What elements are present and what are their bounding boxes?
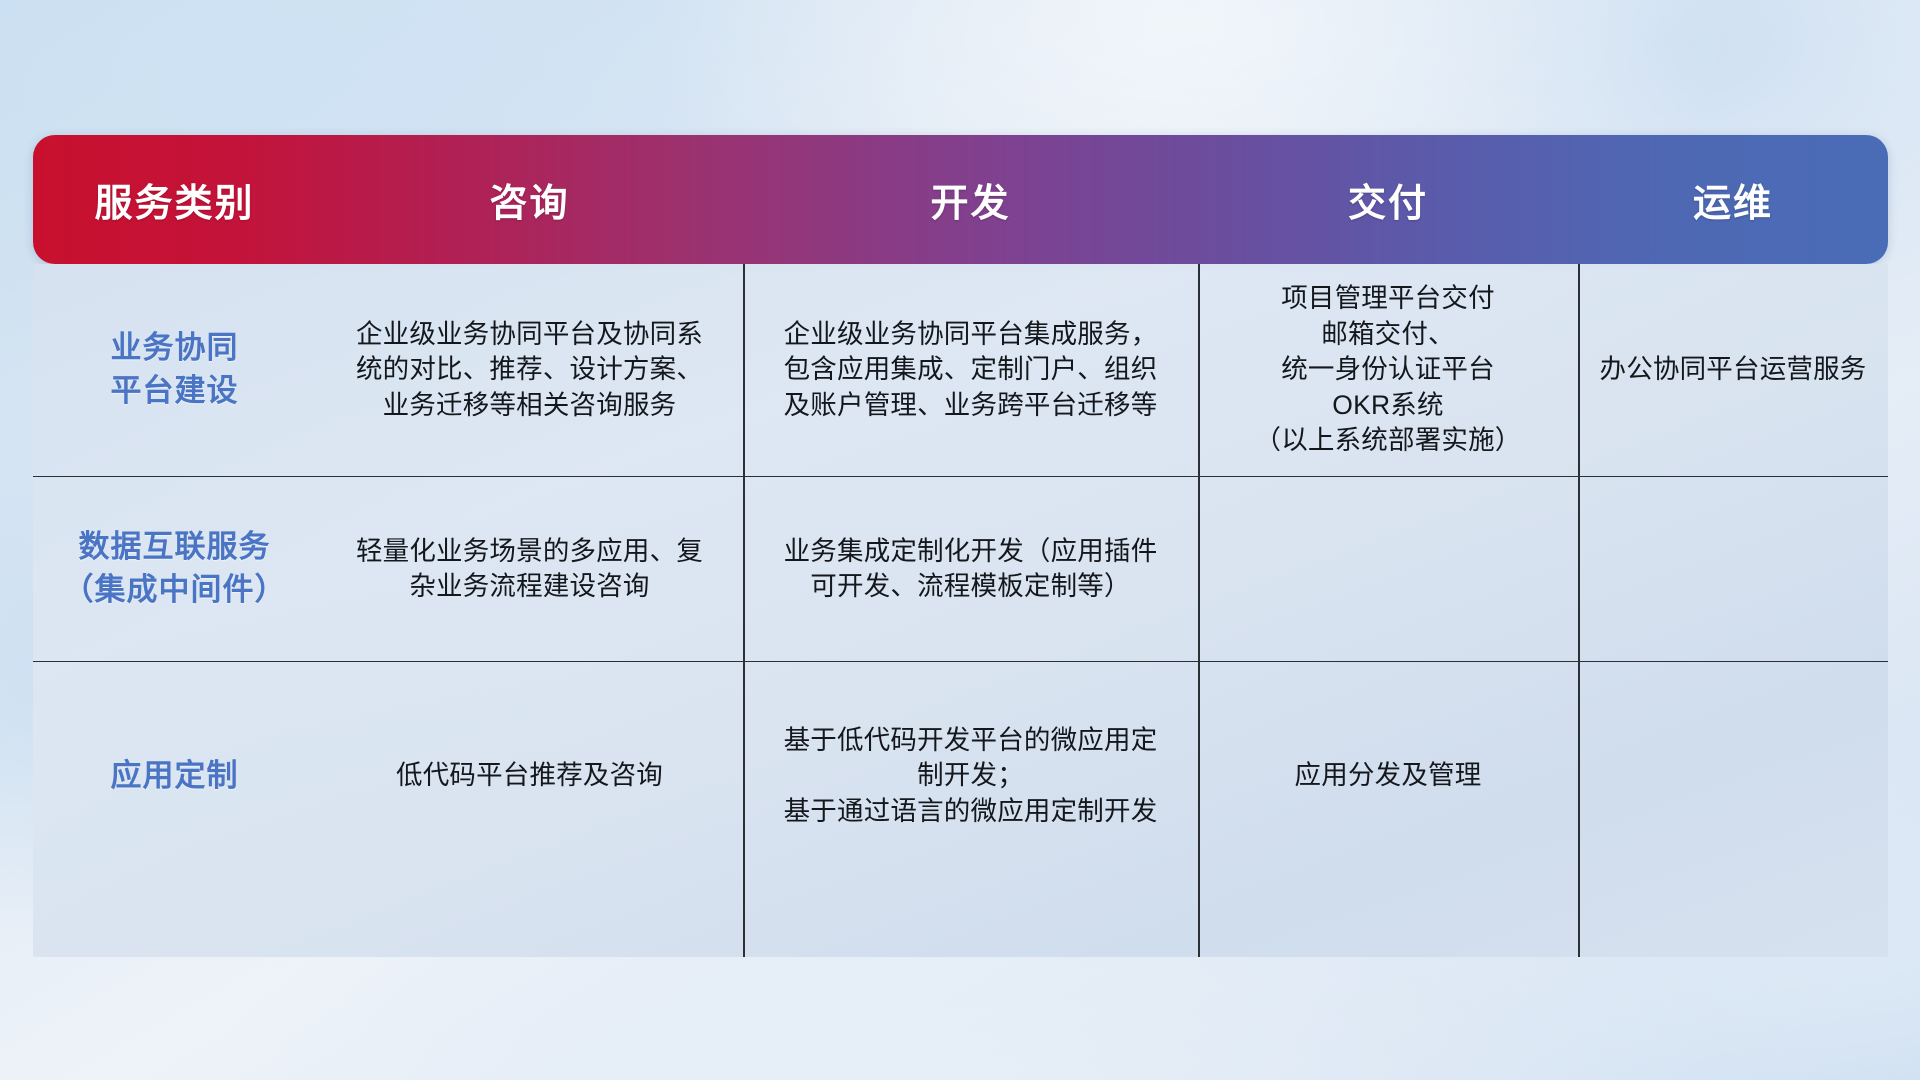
cell-value: 低代码平台推荐及咨询 [396, 758, 663, 794]
category-label: 应用定制 [111, 755, 239, 798]
category-label: 业务协同 平台建设 [111, 327, 239, 413]
cell-development: 企业级业务协同平台集成服务， 包含应用集成、定制门户、组织 及账户管理、业务跨平… [743, 264, 1198, 476]
category-label: 数据互联服务 （集成中间件） [63, 526, 287, 612]
column-header-label: 开发 [930, 172, 1010, 227]
cell-consulting: 企业级业务协同平台及协同系 统的对比、推荐、设计方案、 业务迁移等相关咨询服务 [316, 264, 743, 476]
column-header-label: 咨询 [489, 172, 569, 227]
service-matrix-card: 服务类别 咨询 开发 交付 运维 业务协同 平台建设 企业级业务协同平台及协同系… [33, 135, 1888, 957]
cell-consulting: 低代码平台推荐及咨询 [316, 662, 743, 890]
table-row: 应用定制 低代码平台推荐及咨询 基于低代码开发平台的微应用定 制开发； 基于通过… [33, 662, 1888, 890]
column-header-label: 交付 [1348, 172, 1428, 227]
column-header-operations: 运维 [1578, 135, 1888, 264]
cell-delivery: 应用分发及管理 [1198, 662, 1578, 890]
table-header-row: 服务类别 咨询 开发 交付 运维 [33, 135, 1888, 264]
column-header-label: 服务类别 [94, 172, 254, 227]
cell-service-category: 应用定制 [33, 662, 316, 890]
cell-delivery [1198, 477, 1578, 661]
cell-operations: 办公协同平台运营服务 [1578, 264, 1888, 476]
column-header-service-category: 服务类别 [33, 135, 316, 264]
cell-value: 业务集成定制化开发（应用插件 可开发、流程模板定制等） [784, 534, 1158, 605]
cell-service-category: 业务协同 平台建设 [33, 264, 316, 476]
cell-delivery: 项目管理平台交付 邮箱交付、 统一身份认证平台 OKR系统 （以上系统部署实施） [1198, 264, 1578, 476]
cell-development: 基于低代码开发平台的微应用定 制开发； 基于通过语言的微应用定制开发 [743, 662, 1198, 890]
table-row: 业务协同 平台建设 企业级业务协同平台及协同系 统的对比、推荐、设计方案、 业务… [33, 264, 1888, 477]
cell-service-category: 数据互联服务 （集成中间件） [33, 477, 316, 661]
cell-value: 企业级业务协同平台及协同系 统的对比、推荐、设计方案、 业务迁移等相关咨询服务 [356, 317, 703, 424]
cell-operations [1578, 477, 1888, 661]
column-header-label: 运维 [1693, 172, 1773, 227]
cell-development: 业务集成定制化开发（应用插件 可开发、流程模板定制等） [743, 477, 1198, 661]
table-body: 业务协同 平台建设 企业级业务协同平台及协同系 统的对比、推荐、设计方案、 业务… [33, 264, 1888, 957]
column-header-delivery: 交付 [1198, 135, 1578, 264]
cell-value: 基于低代码开发平台的微应用定 制开发； 基于通过语言的微应用定制开发 [784, 723, 1158, 830]
cell-consulting: 轻量化业务场景的多应用、复 杂业务流程建设咨询 [316, 477, 743, 661]
table-row: 数据互联服务 （集成中间件） 轻量化业务场景的多应用、复 杂业务流程建设咨询 业… [33, 477, 1888, 662]
cell-value: 项目管理平台交付 邮箱交付、 统一身份认证平台 OKR系统 （以上系统部署实施） [1255, 281, 1522, 459]
cell-operations [1578, 662, 1888, 890]
column-header-development: 开发 [743, 135, 1198, 264]
cell-value: 轻量化业务场景的多应用、复 杂业务流程建设咨询 [356, 534, 703, 605]
cell-value: 应用分发及管理 [1295, 758, 1482, 794]
cell-value: 办公协同平台运营服务 [1600, 352, 1867, 388]
cell-value: 企业级业务协同平台集成服务， 包含应用集成、定制门户、组织 及账户管理、业务跨平… [784, 317, 1158, 424]
column-header-consulting: 咨询 [316, 135, 743, 264]
